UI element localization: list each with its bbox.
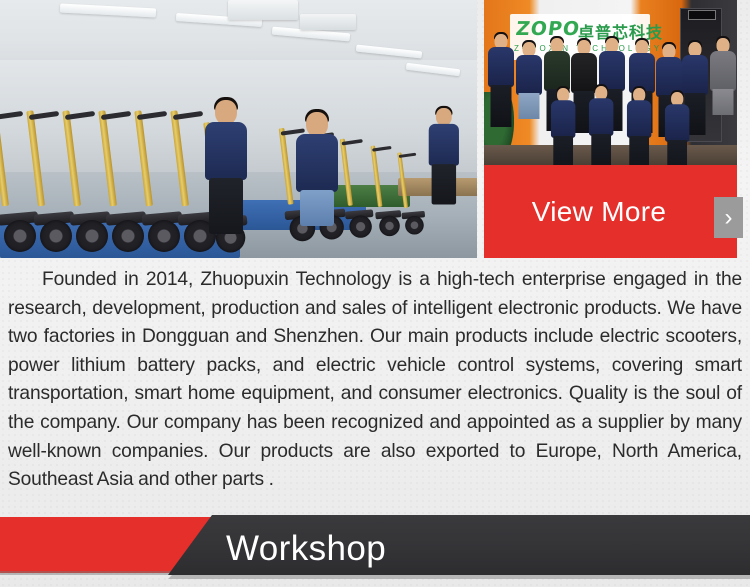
team-member	[664, 92, 690, 162]
chevron-right-icon[interactable]: ›	[714, 197, 743, 238]
factory-worker	[428, 108, 460, 194]
page-root: ZOPO 卓普芯科技 ZOPOXIN TECHNOLOGY View More …	[0, 0, 750, 587]
factory-assembly-photo	[0, 0, 477, 258]
company-logo-text: ZOPO	[514, 18, 581, 40]
team-member	[550, 88, 576, 161]
team-member	[708, 38, 737, 146]
company-description: Founded in 2014, Zhuopuxin Technology is…	[8, 266, 742, 495]
ceiling-vent	[300, 14, 356, 30]
team-member	[588, 86, 614, 161]
section-title: Workshop	[226, 529, 386, 569]
team-member	[514, 42, 544, 146]
team-member	[486, 34, 516, 144]
team-group-photo: ZOPO 卓普芯科技 ZOPOXIN TECHNOLOGY	[484, 0, 737, 165]
view-more-button[interactable]: View More	[484, 165, 714, 258]
banner-dark-shadow	[168, 575, 750, 579]
scooter-unit	[348, 161, 372, 242]
scooter-unit	[404, 178, 424, 238]
ceiling-vent	[228, 0, 298, 20]
factory-worker	[196, 100, 256, 258]
scooter-unit	[378, 170, 400, 240]
door-sign	[688, 10, 716, 20]
team-member	[626, 88, 652, 161]
workshop-section-banner: Workshop	[0, 515, 750, 581]
factory-worker	[288, 112, 346, 258]
